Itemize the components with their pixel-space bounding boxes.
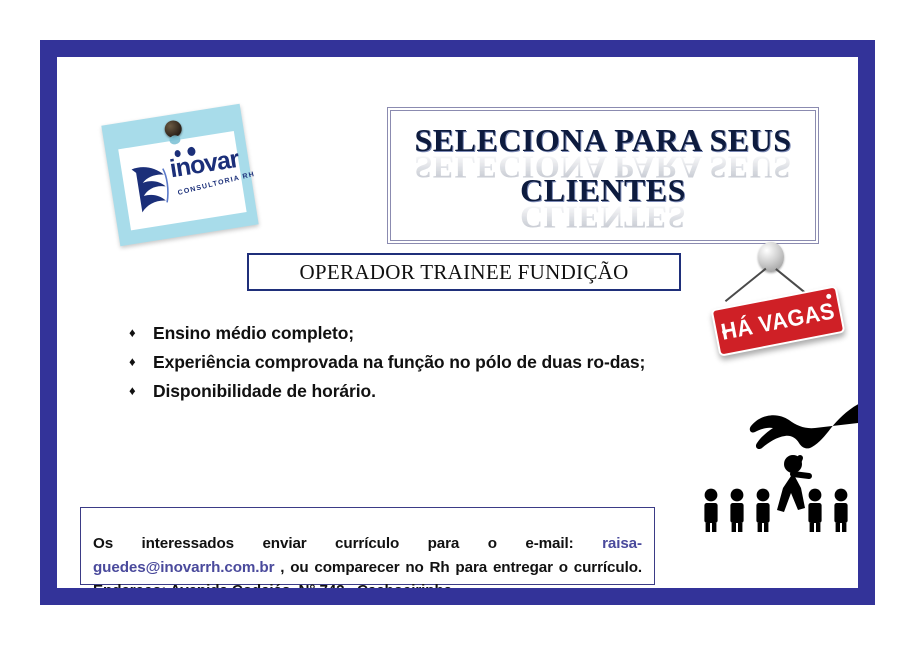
company-logo-badge: inovar CONSULTORIA RH bbox=[101, 104, 258, 246]
contact-before-email: Os interessados enviar currículo para o … bbox=[93, 535, 602, 552]
headline-line-2-reflection: CLIENTES bbox=[388, 201, 818, 234]
list-item: ♦ Ensino médio completo; bbox=[119, 319, 679, 347]
list-item: ♦ Experiência comprovada na função no pó… bbox=[119, 348, 679, 376]
flyer-outer-border: inovar CONSULTORIA RH SELECIONA PARA SEU… bbox=[40, 40, 875, 605]
recruitment-hand-picking-person-icon bbox=[697, 392, 858, 532]
position-title: OPERADOR TRAINEE FUNDIÇÃO bbox=[299, 260, 628, 285]
diamond-bullet-icon: ♦ bbox=[119, 319, 153, 347]
diamond-bullet-icon: ♦ bbox=[119, 377, 153, 405]
contact-paragraph: Os interessados enviar currículo para o … bbox=[93, 532, 642, 588]
requirements-list: ♦ Ensino médio completo; ♦ Experiência c… bbox=[119, 319, 679, 406]
sign-label: HÁ VAGAS bbox=[719, 297, 837, 345]
diamond-bullet-icon: ♦ bbox=[119, 348, 153, 376]
flyer-page: inovar CONSULTORIA RH SELECIONA PARA SEU… bbox=[57, 57, 858, 588]
headline-box: SELECIONA PARA SEUS SELECIONA PARA SEUS … bbox=[387, 107, 819, 244]
sign-wire-left bbox=[725, 268, 766, 302]
requirement-text: Experiência comprovada na função no pólo… bbox=[153, 348, 645, 376]
ha-vagas-sign: HÁ VAGAS bbox=[702, 242, 852, 367]
contact-box: Os interessados enviar currículo para o … bbox=[80, 507, 655, 585]
position-title-box: OPERADOR TRAINEE FUNDIÇÃO bbox=[247, 253, 681, 291]
requirement-text: Disponibilidade de horário. bbox=[153, 377, 376, 405]
list-item: ♦ Disponibilidade de horário. bbox=[119, 377, 679, 405]
headline-stack: SELECIONA PARA SEUS SELECIONA PARA SEUS … bbox=[388, 124, 818, 225]
hook-knob-icon bbox=[758, 242, 784, 272]
requirement-text: Ensino médio completo; bbox=[153, 319, 354, 347]
